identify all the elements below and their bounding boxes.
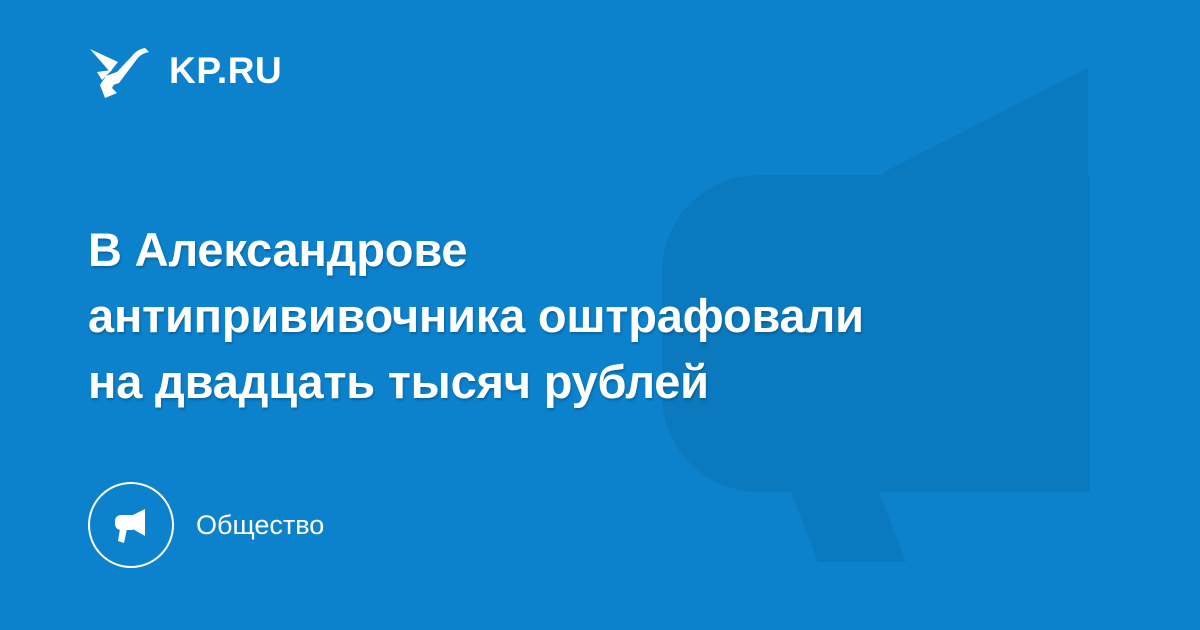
kp-swallow-bird-icon <box>88 39 150 101</box>
category-tag[interactable]: Общество <box>88 482 324 568</box>
megaphone-icon <box>110 503 153 547</box>
brand-wordmark: KP.RU <box>169 52 282 89</box>
brand-logo[interactable]: KP.RU <box>88 36 282 104</box>
share-card: KP.RU В Александрове антипрививочника ош… <box>0 0 1200 630</box>
headline-line-1: В Александрове <box>88 217 1068 283</box>
category-badge <box>88 482 174 568</box>
headline-line-2: антипрививочника оштрафовали <box>88 283 1068 349</box>
category-label: Общество <box>196 512 324 539</box>
headline: В Александрове антипрививочника оштрафов… <box>88 217 1068 415</box>
headline-line-3: на двадцать тысяч рублей <box>88 349 1068 415</box>
